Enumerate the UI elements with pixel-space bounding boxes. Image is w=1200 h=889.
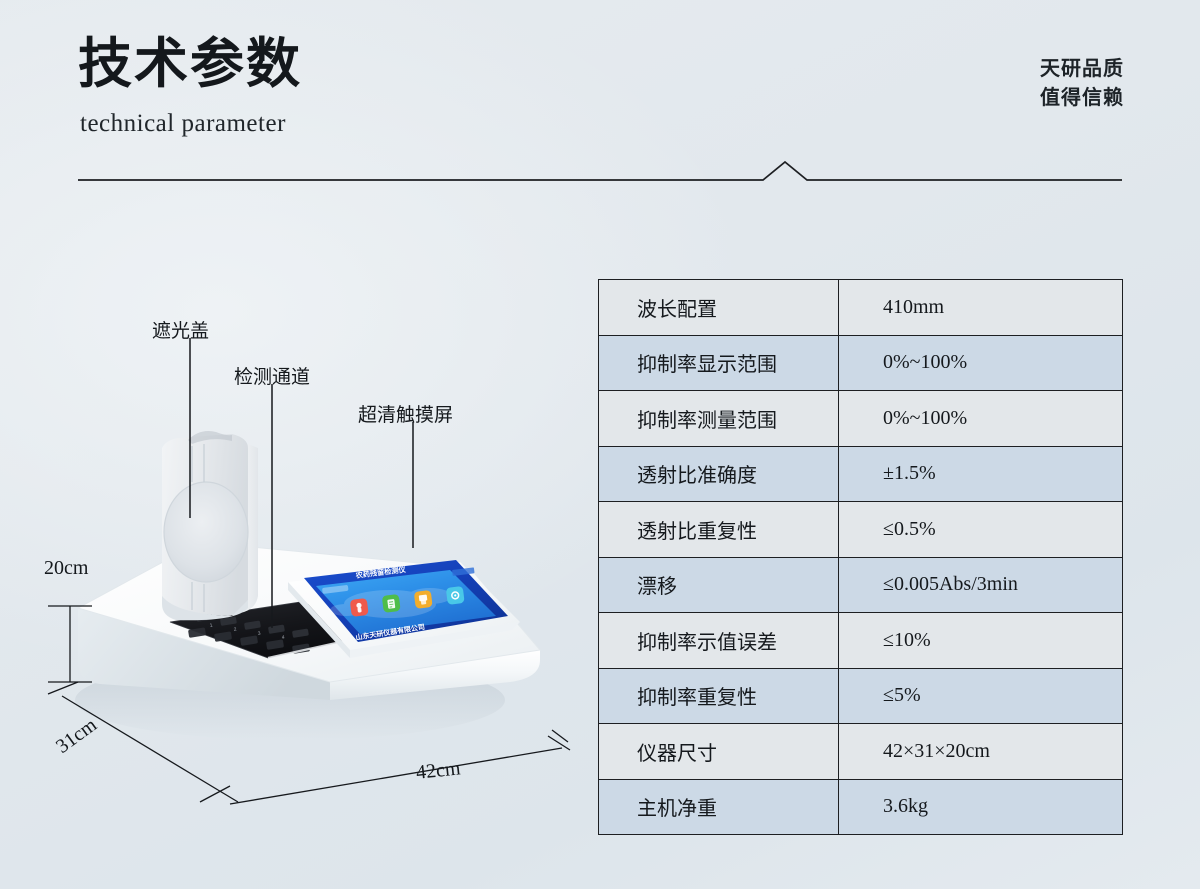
table-row: 透射比准确度±1.5% [599, 446, 1123, 502]
table-row: 漂移≤0.005Abs/3min [599, 557, 1123, 613]
spec-value-cell: ≤0.5% [839, 502, 1123, 558]
spec-value-cell: ±1.5% [839, 446, 1123, 502]
spec-value-cell: 0%~100% [839, 391, 1123, 447]
spec-value-cell: ≤5% [839, 668, 1123, 724]
brand-slogan-line2: 值得信赖 [1040, 84, 1124, 113]
spec-key-cell: 透射比准确度 [599, 446, 839, 502]
spec-key-cell: 抑制率显示范围 [599, 335, 839, 391]
spec-key-cell: 抑制率测量范围 [599, 391, 839, 447]
callout-label-touch-screen: 超清触摸屏 [358, 400, 453, 427]
table-row: 波长配置410mm [599, 280, 1123, 336]
brand-slogan-line1: 天研品质 [1040, 55, 1124, 84]
spec-key-cell: 透射比重复性 [599, 502, 839, 558]
specification-table-body: 波长配置410mm抑制率显示范围0%~100%抑制率测量范围0%~100%透射比… [599, 280, 1123, 835]
spec-key-cell: 漂移 [599, 557, 839, 613]
specification-table: 波长配置410mm抑制率显示范围0%~100%抑制率测量范围0%~100%透射比… [598, 279, 1123, 835]
table-row: 抑制率重复性≤5% [599, 668, 1123, 724]
spec-value-cell: 3.6kg [839, 779, 1123, 835]
table-row: 抑制率示值误差≤10% [599, 613, 1123, 669]
spec-value-cell: 410mm [839, 280, 1123, 336]
spec-value-cell: 0%~100% [839, 335, 1123, 391]
spec-key-cell: 抑制率重复性 [599, 668, 839, 724]
brand-slogan: 天研品质 值得信赖 [1040, 55, 1124, 113]
spec-value-cell: 42×31×20cm [839, 724, 1123, 780]
table-row: 仪器尺寸42×31×20cm [599, 724, 1123, 780]
page-header: 技术参数 technical parameter 天研品质 值得信赖 [0, 0, 1200, 200]
spec-key-cell: 波长配置 [599, 280, 839, 336]
spec-key-cell: 主机净重 [599, 779, 839, 835]
dimension-label-height: 20cm [44, 557, 88, 580]
dimension-label-width: 42cm [415, 757, 462, 785]
header-divider [0, 158, 1200, 198]
spec-key-cell: 抑制率示值误差 [599, 613, 839, 669]
table-row: 主机净重3.6kg [599, 779, 1123, 835]
table-row: 透射比重复性≤0.5% [599, 502, 1123, 558]
spec-value-cell: ≤0.005Abs/3min [839, 557, 1123, 613]
spec-value-cell: ≤10% [839, 613, 1123, 669]
light-shield-cover [162, 431, 258, 620]
page-background: 技术参数 technical parameter 天研品质 值得信赖 [0, 0, 1200, 889]
table-row: 抑制率显示范围0%~100% [599, 335, 1123, 391]
callout-label-light-shield-cover: 遮光盖 [152, 316, 209, 343]
page-subtitle: technical parameter [80, 110, 286, 138]
page-title: 技术参数 [78, 36, 302, 93]
callout-label-detection-channel: 检测通道 [234, 362, 310, 389]
spec-key-cell: 仪器尺寸 [599, 724, 839, 780]
table-row: 抑制率测量范围0%~100% [599, 391, 1123, 447]
product-illustration: 1 2 3 4 [0, 230, 600, 850]
